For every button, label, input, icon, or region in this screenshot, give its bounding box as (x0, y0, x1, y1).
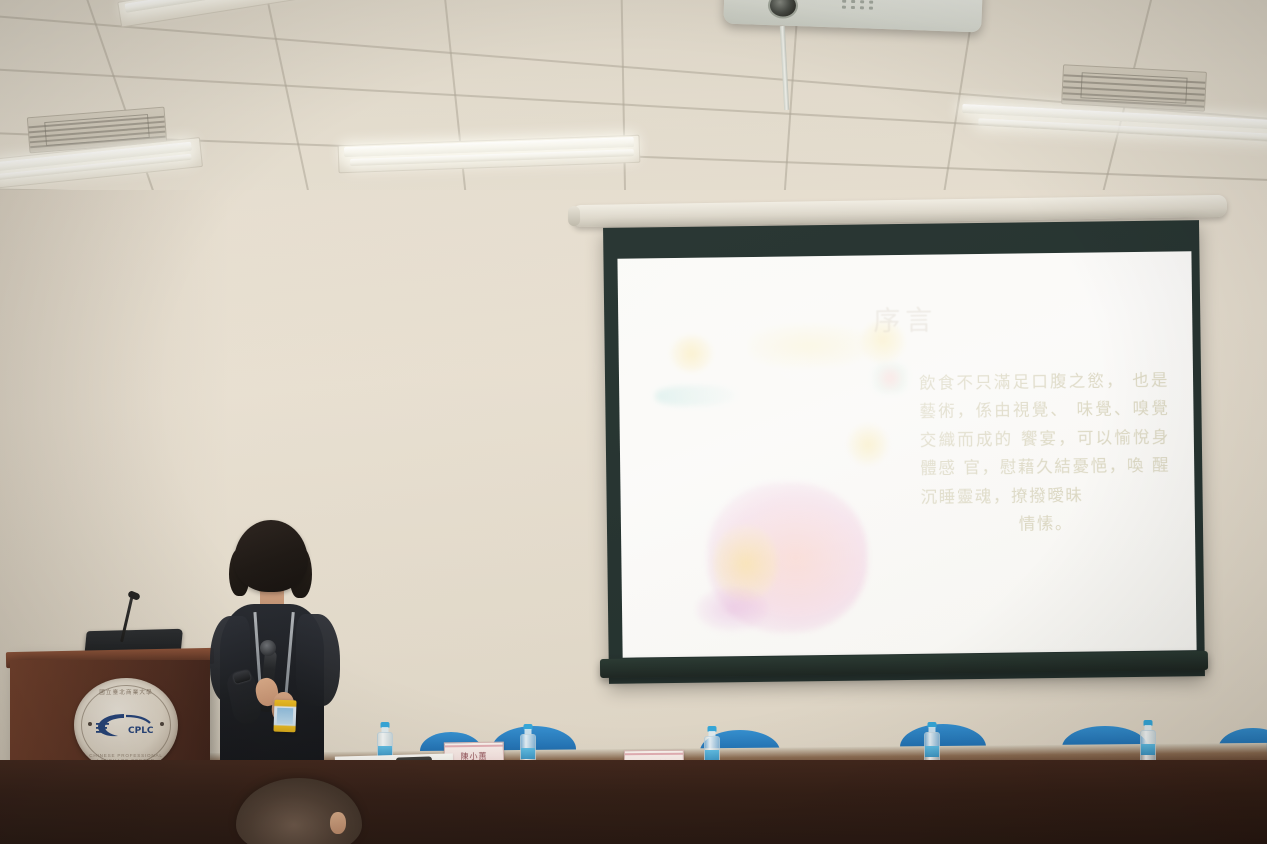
emblem-dot (160, 722, 164, 726)
projector-mount-pole (780, 26, 789, 110)
ceiling-projector (723, 0, 982, 32)
roller-end-cap (568, 206, 580, 226)
lectern-emblem: 國立臺北商業大學 CPLC CHINESE PROFESSIONAL LANGU… (74, 678, 178, 772)
air-diffuser-right (1061, 64, 1207, 111)
slide-image-pink-purple-wash (696, 587, 769, 632)
lanyard-badge (273, 700, 296, 733)
slide-image-citrus-garnish (848, 423, 889, 466)
projection-screen: 序言 飲食不只滿足口腹之慾， 也是藝術，係由視覺、 味覺、嗅覺交織而成的 饗宴，… (603, 220, 1205, 684)
svg-text:CPLC: CPLC (128, 726, 154, 736)
emblem-top-text: 國立臺北商業大學 (74, 688, 178, 696)
hair (234, 520, 308, 592)
emblem-swoosh-icon: CPLC (94, 711, 156, 739)
slide-image-lemon-slice (670, 335, 712, 372)
slide-line: 官，慰藉久結憂悒，喚 (963, 456, 1145, 477)
badge-card (277, 708, 294, 725)
presenter (196, 520, 376, 780)
slide-image-mint-leaf (873, 363, 907, 393)
slide-title: 序言 (618, 295, 1192, 342)
attendee-ear (330, 812, 346, 834)
slide-line-last: 情愫。 (921, 508, 1171, 540)
slide-line: 飲食不只滿足口腹之慾， (919, 371, 1125, 393)
lecture-hall-scene: 序言 飲食不只滿足口腹之慾， 也是藝術，係由視覺、 味覺、嗅覺交織而成的 饗宴，… (0, 0, 1267, 844)
screen-surface: 序言 飲食不只滿足口腹之慾， 也是藝術，係由視覺、 味覺、嗅覺交織而成的 饗宴，… (617, 251, 1196, 657)
nameplate-stripe (445, 745, 503, 748)
sleeve-right (296, 614, 340, 706)
projector-vent-grille (842, 0, 901, 18)
emblem-dot (88, 722, 92, 726)
projector-lens-icon (768, 0, 799, 19)
stage-front-panel (0, 760, 1267, 844)
slide-body-text: 飲食不只滿足口腹之慾， 也是藝術，係由視覺、 味覺、嗅覺交織而成的 饗宴，可以愉… (919, 367, 1171, 541)
slide-image-teal-wash (655, 385, 735, 406)
nameplate-stripe (625, 753, 683, 756)
presentation-slide: 序言 飲食不只滿足口腹之慾， 也是藝術，係由視覺、 味覺、嗅覺交織而成的 饗宴，… (617, 251, 1196, 657)
